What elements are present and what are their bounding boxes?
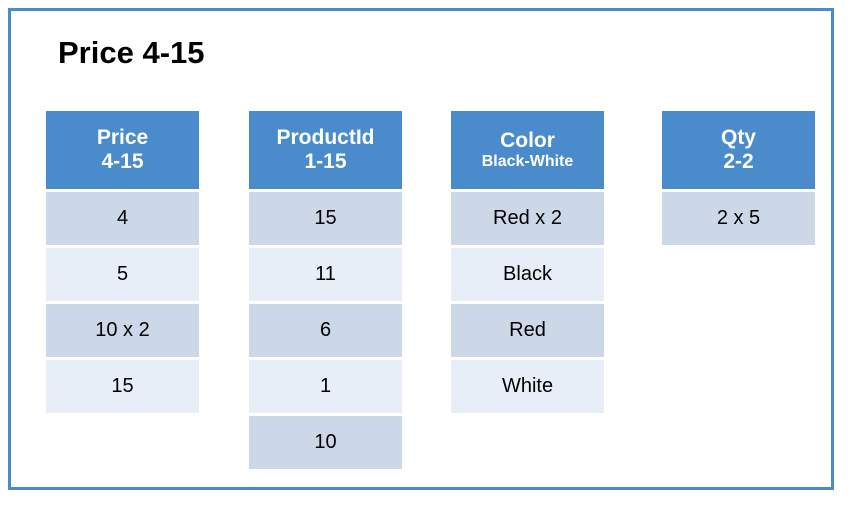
column-header-color: Color Black-White xyxy=(451,111,604,189)
column-header-subtitle: 2-2 xyxy=(723,150,753,174)
table-cell[interactable]: 2 x 5 xyxy=(662,192,815,245)
page-title: Price 4-15 xyxy=(58,35,205,71)
table-cell[interactable]: Red x 2 xyxy=(451,192,604,245)
table-cell[interactable]: 15 xyxy=(46,360,199,413)
column-header-title: Color xyxy=(500,129,555,153)
column-price: Price 4-15 4 5 10 x 2 15 xyxy=(46,111,199,416)
slide-border-frame: Price 4-15 Price 4-15 4 5 10 x 2 15 Prod… xyxy=(8,8,834,490)
column-header-title: Qty xyxy=(721,126,756,150)
slide-canvas: Price 4-15 Price 4-15 4 5 10 x 2 15 Prod… xyxy=(0,0,850,508)
table-cell[interactable]: 4 xyxy=(46,192,199,245)
table-cell[interactable]: White xyxy=(451,360,604,413)
column-group: Price 4-15 4 5 10 x 2 15 ProductId 1-15 … xyxy=(46,111,836,481)
table-cell[interactable]: 10 xyxy=(249,416,402,469)
table-cell[interactable]: 11 xyxy=(249,248,402,301)
table-cell[interactable]: 5 xyxy=(46,248,199,301)
table-cell[interactable]: 15 xyxy=(249,192,402,245)
table-cell[interactable]: 6 xyxy=(249,304,402,357)
column-header-subtitle: Black-White xyxy=(482,153,574,171)
column-header-title: Price xyxy=(97,126,148,150)
column-header-subtitle: 1-15 xyxy=(304,150,346,174)
column-header-title: ProductId xyxy=(277,126,375,150)
column-color: Color Black-White Red x 2 Black Red Whit… xyxy=(451,111,604,416)
column-header-subtitle: 4-15 xyxy=(101,150,143,174)
column-header-qty: Qty 2-2 xyxy=(662,111,815,189)
table-cell[interactable]: Black xyxy=(451,248,604,301)
table-cell[interactable]: 1 xyxy=(249,360,402,413)
column-header-price: Price 4-15 xyxy=(46,111,199,189)
column-productid: ProductId 1-15 15 11 6 1 10 xyxy=(249,111,402,472)
column-qty: Qty 2-2 2 x 5 xyxy=(662,111,815,248)
table-cell[interactable]: Red xyxy=(451,304,604,357)
table-cell[interactable]: 10 x 2 xyxy=(46,304,199,357)
column-header-productid: ProductId 1-15 xyxy=(249,111,402,189)
